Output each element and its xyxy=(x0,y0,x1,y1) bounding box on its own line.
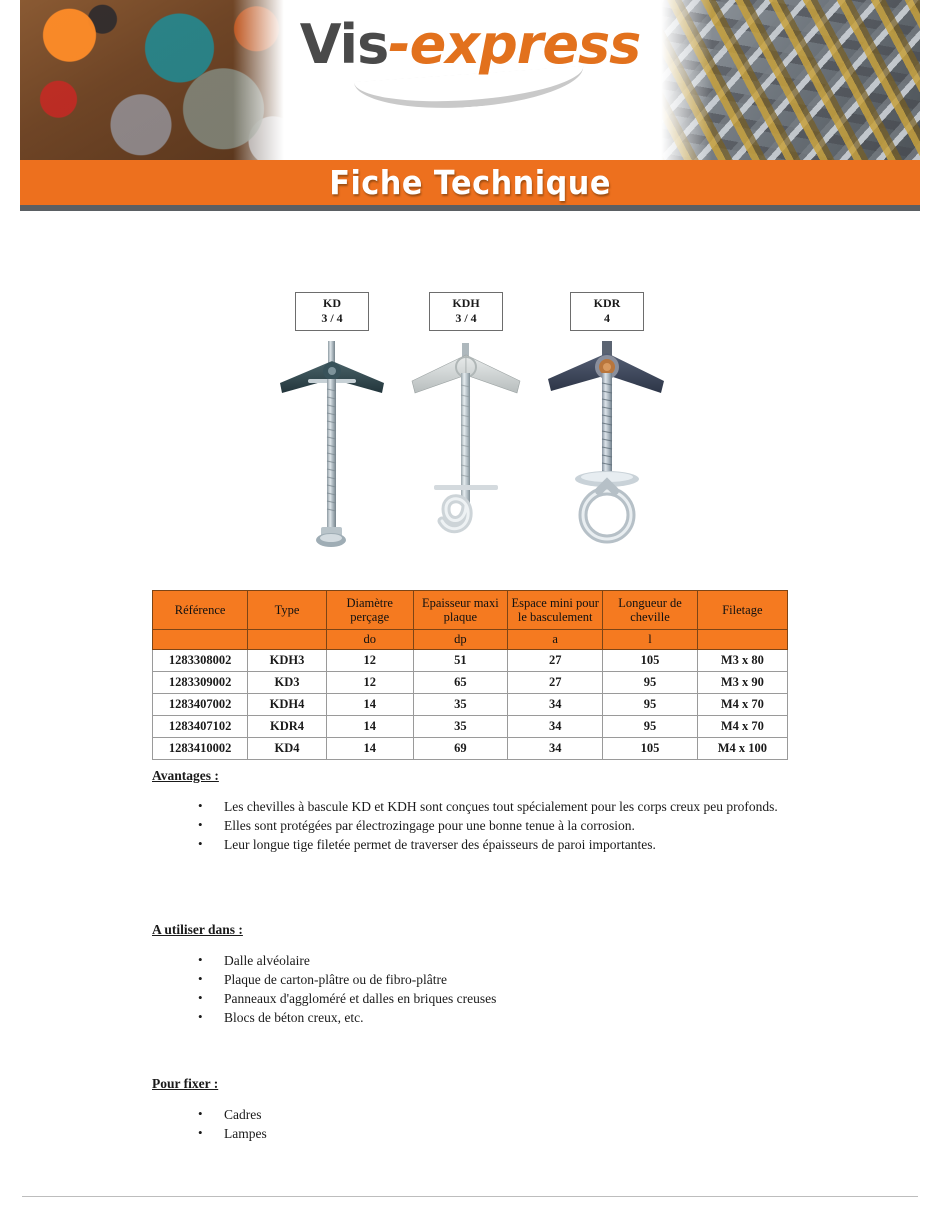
cell-reference: 1283407102 xyxy=(153,716,248,738)
column-header-diametre-percage: Diamètre perçage xyxy=(326,591,413,630)
page-header: Vis-express xyxy=(20,0,920,160)
list-item: Elles sont protégées par électrozingage … xyxy=(198,817,852,834)
column-header-epaisseur-maxi-plaque: Epaisseur maxi plaque xyxy=(413,591,507,630)
cell-type: KD3 xyxy=(248,672,327,694)
cell-type: KD4 xyxy=(248,738,327,760)
table-header-row: Référence Type Diamètre perçage Epaisseu… xyxy=(153,591,788,630)
symbol-reference xyxy=(153,630,248,650)
figure-kdh-label: KDH 3 / 4 xyxy=(429,292,503,331)
cell-dp: 35 xyxy=(413,694,507,716)
list-item: Dalle alvéolaire xyxy=(198,952,852,969)
figure-kdh-name: KDH xyxy=(430,296,502,311)
cell-filetage: M4 x 70 xyxy=(697,694,787,716)
section-pour-fixer-list: Cadres Lampes xyxy=(152,1106,852,1142)
cell-a: 27 xyxy=(508,650,603,672)
figure-kdh: KDH 3 / 4 xyxy=(396,292,536,554)
section-pour-fixer-title: Pour fixer : xyxy=(152,1076,852,1092)
column-header-longueur-cheville: Longueur de cheville xyxy=(603,591,697,630)
column-header-reference: Référence xyxy=(153,591,248,630)
fiche-technique-banner: Fiche Technique xyxy=(20,160,920,205)
symbol-l: l xyxy=(603,630,697,650)
cell-reference: 1283309002 xyxy=(153,672,248,694)
product-figures: KD 3 / 4 xyxy=(262,292,682,567)
cell-do: 14 xyxy=(326,738,413,760)
figure-kdh-illustration xyxy=(396,339,536,554)
cell-a: 34 xyxy=(508,694,603,716)
column-header-type: Type xyxy=(248,591,327,630)
symbol-type xyxy=(248,630,327,650)
cell-filetage: M3 x 80 xyxy=(697,650,787,672)
logo-secondary-text: -express xyxy=(388,13,640,76)
list-item: Leur longue tige filetée permet de trave… xyxy=(198,836,852,853)
section-pour-fixer: Pour fixer : Cadres Lampes xyxy=(152,1076,852,1144)
cell-l: 95 xyxy=(603,716,697,738)
figure-kd-sizes: 3 / 4 xyxy=(296,311,368,326)
section-avantages-title: Avantages : xyxy=(152,768,852,784)
vis-express-logo: Vis-express xyxy=(300,18,641,107)
cell-filetage: M4 x 70 xyxy=(697,716,787,738)
cell-reference: 1283308002 xyxy=(153,650,248,672)
cell-reference: 1283410002 xyxy=(153,738,248,760)
table-row: 1283410002 KD4 14 69 34 105 M4 x 100 xyxy=(153,738,788,760)
table-row: 1283407002 KDH4 14 35 34 95 M4 x 70 xyxy=(153,694,788,716)
cell-a: 27 xyxy=(508,672,603,694)
cell-a: 34 xyxy=(508,738,603,760)
cell-l: 95 xyxy=(603,672,697,694)
cell-l: 105 xyxy=(603,650,697,672)
workbench-screws-photo xyxy=(20,0,295,160)
section-avantages-list: Les chevilles à bascule KD et KDH sont c… xyxy=(152,798,852,853)
figure-kdr-name: KDR xyxy=(571,296,643,311)
figure-kd: KD 3 / 4 xyxy=(262,292,402,554)
figure-kd-name: KD xyxy=(296,296,368,311)
footer-divider xyxy=(22,1196,918,1197)
symbol-filetage xyxy=(697,630,787,650)
table-row: 1283309002 KD3 12 65 27 95 M3 x 90 xyxy=(153,672,788,694)
cell-filetage: M3 x 90 xyxy=(697,672,787,694)
cell-type: KDH4 xyxy=(248,694,327,716)
cell-dp: 69 xyxy=(413,738,507,760)
section-a-utiliser-dans-list: Dalle alvéolaire Plaque de carton-plâtre… xyxy=(152,952,852,1026)
logo-primary-text: Vis xyxy=(300,13,389,76)
table-row: 1283407102 KDR4 14 35 34 95 M4 x 70 xyxy=(153,716,788,738)
specification-table: Référence Type Diamètre perçage Epaisseu… xyxy=(152,590,788,760)
column-header-filetage: Filetage xyxy=(697,591,787,630)
assorted-screws-photo xyxy=(650,0,920,160)
banner-underline-rule xyxy=(20,205,920,211)
cell-dp: 51 xyxy=(413,650,507,672)
cell-do: 12 xyxy=(326,650,413,672)
cell-type: KDH3 xyxy=(248,650,327,672)
cell-filetage: M4 x 100 xyxy=(697,738,787,760)
figure-kdr: KDR 4 xyxy=(537,292,677,554)
cell-reference: 1283407002 xyxy=(153,694,248,716)
figure-kdr-illustration xyxy=(537,339,677,554)
cell-l: 95 xyxy=(603,694,697,716)
cell-do: 14 xyxy=(326,694,413,716)
list-item: Plaque de carton-plâtre ou de fibro-plât… xyxy=(198,971,852,988)
symbol-dp: dp xyxy=(413,630,507,650)
cell-a: 34 xyxy=(508,716,603,738)
cell-dp: 65 xyxy=(413,672,507,694)
cell-l: 105 xyxy=(603,738,697,760)
cell-type: KDR4 xyxy=(248,716,327,738)
table-symbol-row: do dp a l xyxy=(153,630,788,650)
figure-kd-illustration xyxy=(262,339,402,554)
table-row: 1283308002 KDH3 12 51 27 105 M3 x 80 xyxy=(153,650,788,672)
symbol-a: a xyxy=(508,630,603,650)
column-header-espace-mini-basculement: Espace mini pour le basculement xyxy=(508,591,603,630)
figure-kdh-sizes: 3 / 4 xyxy=(430,311,502,326)
list-item: Blocs de béton creux, etc. xyxy=(198,1009,852,1026)
cell-dp: 35 xyxy=(413,716,507,738)
list-item: Panneaux d'aggloméré et dalles en brique… xyxy=(198,990,852,1007)
list-item: Les chevilles à bascule KD et KDH sont c… xyxy=(198,798,852,815)
banner-title: Fiche Technique xyxy=(329,163,611,202)
section-avantages: Avantages : Les chevilles à bascule KD e… xyxy=(152,768,852,855)
list-item: Lampes xyxy=(198,1125,852,1142)
figure-kdr-label: KDR 4 xyxy=(570,292,644,331)
symbol-do: do xyxy=(326,630,413,650)
section-a-utiliser-dans-title: A utiliser dans : xyxy=(152,922,852,938)
list-item: Cadres xyxy=(198,1106,852,1123)
cell-do: 14 xyxy=(326,716,413,738)
figure-kdr-sizes: 4 xyxy=(571,311,643,326)
figure-kd-label: KD 3 / 4 xyxy=(295,292,369,331)
section-a-utiliser-dans: A utiliser dans : Dalle alvéolaire Plaqu… xyxy=(152,922,852,1028)
cell-do: 12 xyxy=(326,672,413,694)
